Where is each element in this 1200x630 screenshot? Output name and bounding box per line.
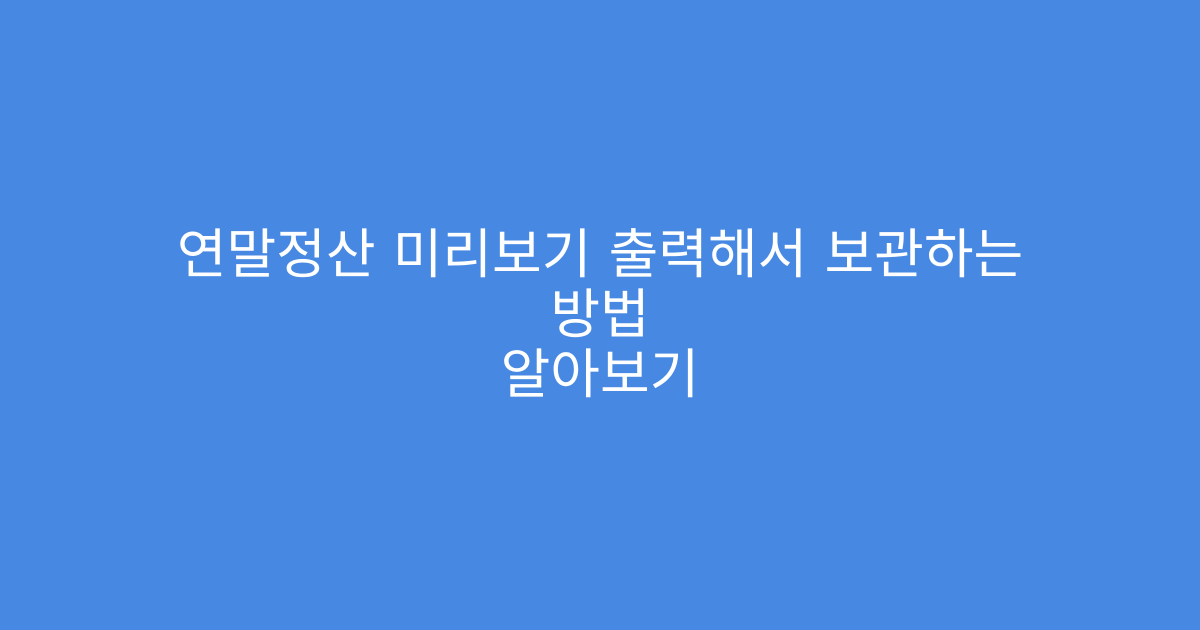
headline-block: 연말정산 미리보기 출력해서 보관하는 방법 알아보기: [120, 225, 1080, 405]
page-title: 연말정산 미리보기 출력해서 보관하는 방법 알아보기: [140, 225, 1060, 405]
social-share-card: 연말정산 미리보기 출력해서 보관하는 방법 알아보기: [0, 0, 1200, 630]
